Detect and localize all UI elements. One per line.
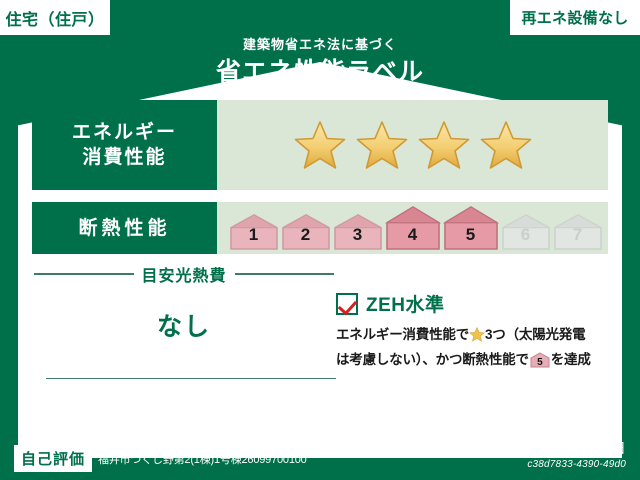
label-header: 建築物省エネ法に基づく 省エネ性能ラベル: [0, 36, 640, 89]
star-icon: [480, 120, 532, 170]
badge-building-type-label: 住宅（住戸）: [5, 6, 104, 30]
insulation-grade-house: 3: [333, 214, 383, 250]
evaluation-date: 評価日 2025年10月21日: [471, 439, 626, 458]
energy-performance-value-cell: [217, 100, 608, 190]
header-subtitle: 建築物省エネ法に基づく: [0, 36, 640, 54]
insulation-grade-house: 5: [443, 206, 499, 250]
badge-renewable-equipment-label: 再エネ設備なし: [521, 7, 628, 28]
energy-performance-label-cell: エネルギー 消費性能: [32, 100, 217, 190]
zeh-description: エネルギー消費性能で3つ（太陽光発電は考慮しない）、かつ断熱性能で5を達成: [336, 324, 614, 375]
badge-renewable-equipment: 再エネ設備なし: [510, 0, 640, 35]
insulation-label: 断熱性能: [78, 216, 170, 241]
panel-content: エネルギー 消費性能 断熱性能 1234567 目安光熱費 なし: [18, 62, 622, 458]
utility-cost-divider: [46, 378, 336, 379]
insulation-grade-number: 3: [333, 225, 383, 245]
heading-rule-left: [34, 273, 134, 275]
insulation-grade-number: 7: [553, 225, 603, 245]
footer-right: 評価日 2025年10月21日 c38d7833-4390-49d0: [471, 439, 626, 472]
zeh-desc-part1: エネルギー消費性能で: [336, 327, 469, 342]
insulation-performance-row: 断熱性能 1234567: [32, 202, 608, 254]
zeh-standard-block: ZEH水準 エネルギー消費性能で3つ（太陽光発電は考慮しない）、かつ断熱性能で5…: [336, 290, 614, 375]
star-icon: [294, 120, 346, 170]
evaluation-id: c38d7833-4390-49d0: [471, 458, 626, 472]
zeh-desc-part3: は考慮しない）、かつ断熱性能で: [336, 352, 529, 367]
insulation-performance-value-cell: 1234567: [217, 202, 608, 254]
insulation-grade-scale: 1234567: [223, 206, 603, 250]
energy-label-line1: エネルギー: [72, 120, 177, 145]
insulation-grade-number: 6: [501, 225, 551, 245]
zeh-title-row: ZEH水準: [336, 290, 614, 317]
insulation-performance-label-cell: 断熱性能: [32, 202, 217, 254]
utility-cost-heading: 目安光熱費: [34, 262, 334, 286]
property-address: 福井市つくし野第2(1棟)1号棟26099700100: [98, 451, 307, 467]
zeh-desc-part4: を達成: [551, 352, 591, 367]
star-icon: [418, 120, 470, 170]
utility-cost-heading-label: 目安光熱費: [142, 262, 227, 286]
insulation-grade-house: 2: [281, 214, 331, 250]
zeh-title-label: ZEH水準: [366, 290, 445, 317]
energy-performance-label: 住宅（住戸） 再エネ設備なし 建築物省エネ法に基づく 省エネ性能ラベル エネルギ…: [0, 0, 640, 480]
insulation-grade-house: 6: [501, 214, 551, 250]
badge-building-type: 住宅（住戸）: [0, 0, 110, 35]
footer-left: 自己評価 福井市つくし野第2(1棟)1号棟26099700100: [14, 445, 307, 472]
star-icon: [356, 120, 408, 170]
star-rating: [294, 120, 532, 170]
insulation-grade-number: 4: [385, 225, 441, 245]
insulation-grade-house: 1: [229, 214, 279, 250]
zeh-desc-part2: 3つ（太陽光発電: [485, 327, 585, 342]
utility-cost-value: なし: [34, 307, 334, 343]
heading-rule-right: [235, 273, 335, 275]
house-icon-inline-number: 5: [530, 352, 550, 374]
self-evaluation-badge: 自己評価: [14, 445, 92, 472]
insulation-grade-number: 1: [229, 225, 279, 245]
insulation-grade-house: 4: [385, 206, 441, 250]
insulation-grade-number: 2: [281, 225, 331, 245]
energy-label-line2: 消費性能: [82, 145, 166, 170]
star-icon-inline: [469, 327, 485, 349]
checkmark-icon: [336, 293, 358, 315]
header-title: 省エネ性能ラベル: [0, 55, 640, 89]
insulation-grade-house: 7: [553, 214, 603, 250]
energy-performance-row: エネルギー 消費性能: [32, 100, 608, 190]
house-icon-inline: 5: [530, 352, 550, 375]
insulation-grade-number: 5: [443, 225, 499, 245]
